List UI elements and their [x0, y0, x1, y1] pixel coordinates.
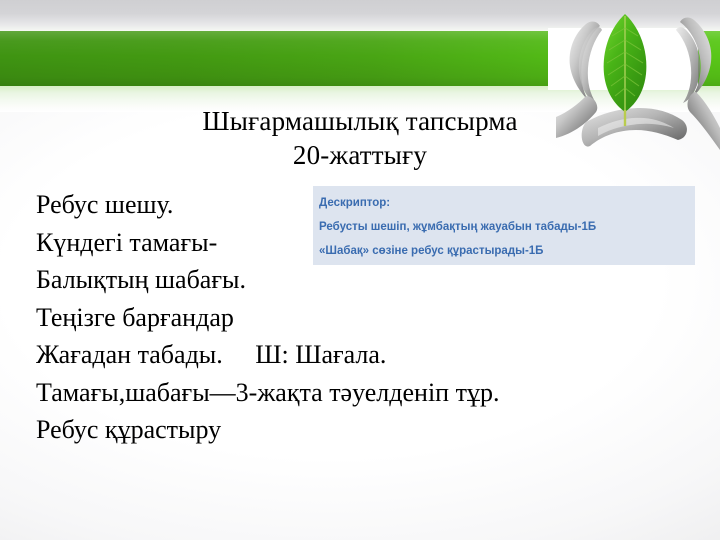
body-line-7: Ребус құрастыру — [36, 411, 686, 449]
page-title: Шығармашылық тапсырма — [0, 104, 720, 138]
body-line-3: Балықтың шабағы. — [36, 261, 686, 299]
body-line-5: Жағадан табады. Ш: Шағала. — [36, 336, 686, 374]
descriptor-criterion-2: «Шабақ» сөзіне ребус құрастырады-1Б — [319, 239, 695, 263]
title-block: Шығармашылық тапсырма 20-жаттығу — [0, 104, 720, 172]
body-line-6: Тамағы,шабағы—3-жақта тәуелденіп тұр. — [36, 374, 686, 412]
page-subtitle: 20-жаттығу — [0, 138, 720, 172]
descriptor-heading: Дескриптор: — [319, 191, 695, 215]
descriptor-box: Дескриптор: Ребусты шешіп, жұмбақтың жау… — [313, 186, 695, 265]
slide-canvas: Шығармашылық тапсырма 20-жаттығу Ребус ш… — [0, 0, 720, 540]
descriptor-criterion-1: Ребусты шешіп, жұмбақтың жауабын табады-… — [319, 215, 695, 239]
body-line-4: Теңізге барғандар — [36, 299, 686, 337]
